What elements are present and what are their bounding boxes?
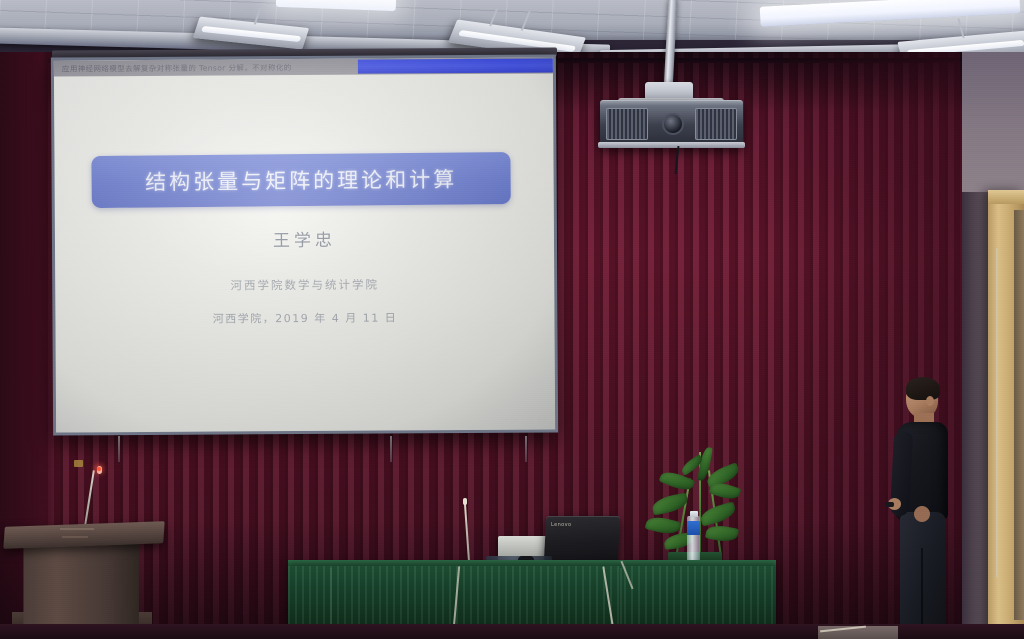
podium-trim-2: [62, 536, 88, 538]
lecture-hall-scene: 应用神经网络模型去解复杂对称张量的 Tensor 分解，不对称化的 结构张量与矩…: [0, 0, 1024, 639]
presenter: [890, 380, 970, 639]
slide-author: 王学忠: [55, 225, 554, 253]
water-bottle-cap: [690, 511, 698, 517]
wall-bracket: [74, 460, 83, 467]
projector-lens-icon: [662, 113, 684, 135]
fixture-tube: [201, 26, 301, 41]
slide-header-text: 应用神经网络模型去解复杂对称张量的 Tensor 分解，不对称化的: [54, 62, 292, 74]
projector-vent-right: [695, 108, 737, 140]
ceiling-projector[interactable]: [600, 100, 743, 146]
slide-header-blue-block: [358, 58, 553, 73]
screen-support-left: [118, 436, 120, 462]
slide-header-bar: 应用神经网络模型去解复杂对称张量的 Tensor 分解，不对称化的: [54, 57, 553, 76]
presenter-hair: [906, 377, 940, 400]
door-header: [988, 190, 1024, 204]
screen-support-right: [525, 436, 527, 462]
slide-footer: · · · · · ·: [506, 417, 549, 424]
projector-base-plate: [598, 142, 745, 148]
projection-screen-frame: 应用神经网络模型去解复杂对称张量的 Tensor 分解，不对称化的 结构张量与矩…: [51, 54, 558, 435]
presenter-ear: [926, 396, 934, 406]
podium-trim-1: [60, 528, 94, 530]
laptop-brand-label: Lenovo: [551, 522, 571, 528]
desk-microphone-head: [463, 498, 467, 505]
microphone-led-icon: [97, 467, 101, 471]
slide-title: 结构张量与矩阵的理论和计算: [145, 163, 457, 196]
right-wall-upper: [962, 52, 1024, 192]
slide-title-box: 结构张量与矩阵的理论和计算: [92, 152, 512, 208]
projector-vent-left: [606, 108, 648, 140]
hanging-cable: [996, 248, 998, 578]
slide-affiliation: 河西学院数学与统计学院: [55, 275, 554, 294]
screen-support-center: [390, 436, 392, 462]
door-jamb: [1014, 210, 1024, 620]
water-bottle-label: [687, 521, 700, 535]
presenter-legs: [900, 512, 946, 639]
presenter-hand-in-pocket: [914, 506, 930, 522]
slide-date: 河西学院，2019 年 4 月 11 日: [55, 309, 554, 328]
projection-screen: 应用神经网络模型去解复杂对称张量的 Tensor 分解，不对称化的 结构张量与矩…: [54, 57, 555, 432]
presentation-clicker[interactable]: [885, 502, 894, 507]
